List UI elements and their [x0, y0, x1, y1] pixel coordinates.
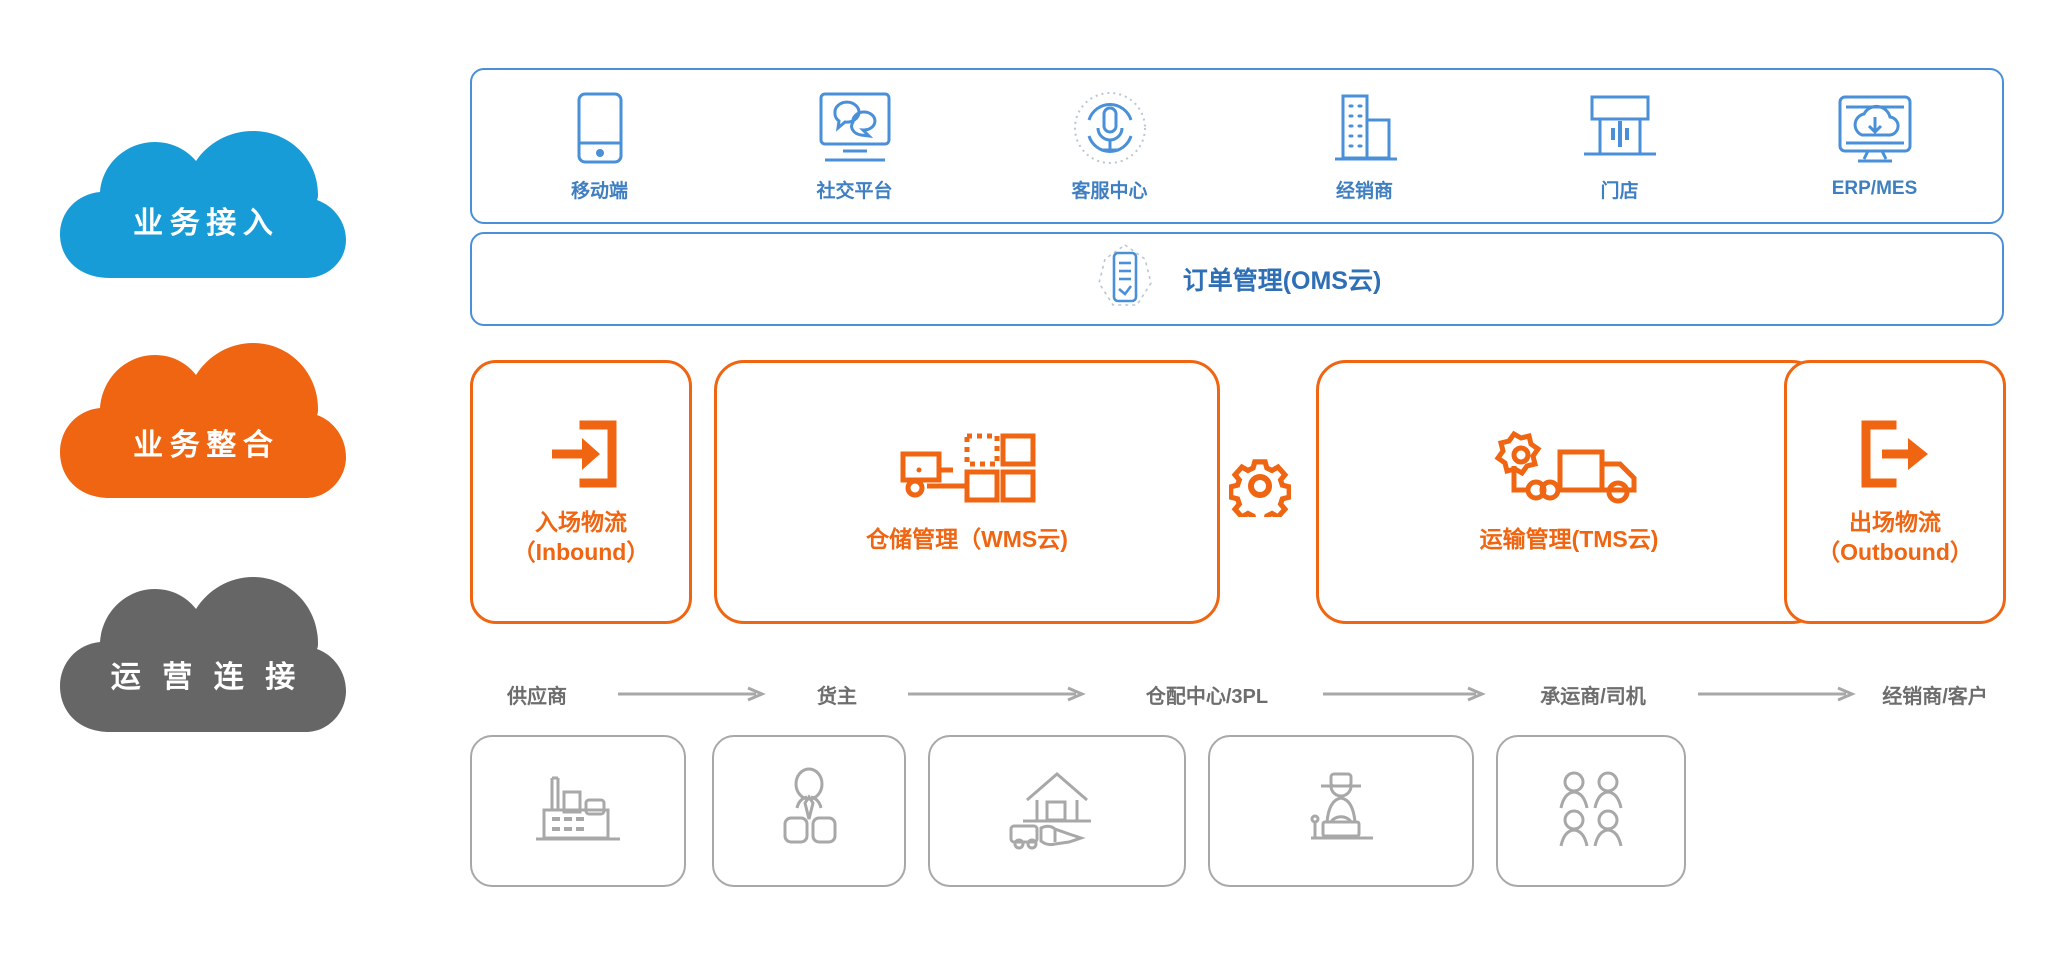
- integration-box-en: （Outbound）: [1817, 537, 1973, 567]
- operation-entity-customer[interactable]: [1496, 735, 1686, 887]
- access-channel-label: ERP/MES: [1832, 178, 1918, 200]
- truck-gear-icon: [1494, 430, 1644, 508]
- integration-box-en: （Inbound）: [513, 537, 650, 567]
- microphone-headset-icon: [1071, 90, 1149, 166]
- arrow-right-icon: [604, 686, 782, 702]
- integration-box-text: 仓储管理（WMS云): [866, 524, 1068, 554]
- operation-entity-3pl[interactable]: [928, 735, 1186, 887]
- flow-label-shipper: 货主: [817, 680, 857, 709]
- integration-box-text: 入场物流 （Inbound）: [513, 507, 650, 568]
- warehouse-pallet-icon: [897, 430, 1037, 508]
- operation-entity-carrier[interactable]: [1208, 735, 1474, 887]
- oms-bar[interactable]: 订单管理(OMS云): [470, 232, 2004, 326]
- storefront-icon: [1578, 90, 1662, 166]
- access-channel-dealer[interactable]: 经销商: [1237, 70, 1492, 222]
- cloud-layer-integration: 业务整合: [58, 330, 348, 500]
- person-with-boxes-icon: [769, 766, 849, 857]
- access-channel-service[interactable]: 客服中心: [982, 70, 1237, 222]
- integration-box-cn: 出场物流: [1817, 507, 1973, 537]
- integration-box-outbound[interactable]: 出场物流 （Outbound）: [1784, 360, 2006, 624]
- chat-bubbles-monitor-icon: [815, 90, 895, 166]
- factory-icon: [530, 766, 626, 857]
- operation-entities-row: [470, 735, 2000, 885]
- mobile-phone-icon: [575, 90, 625, 166]
- oms-label: 订单管理(OMS云): [1183, 261, 1382, 297]
- cloud-download-monitor-icon: [1832, 92, 1918, 168]
- arrow-out-of-box-icon: [1856, 417, 1934, 491]
- order-document-icon: [1093, 243, 1157, 316]
- integration-box-text: 运输管理(TMS云): [1480, 524, 1659, 554]
- integration-box-tms[interactable]: 运输管理(TMS云): [1316, 360, 1822, 624]
- access-channel-label: 社交平台: [816, 176, 892, 203]
- integration-box-wms[interactable]: 仓储管理（WMS云): [714, 360, 1220, 624]
- access-channels-panel: 移动端 社交平台: [470, 68, 2004, 224]
- operation-entity-supplier[interactable]: [470, 735, 686, 887]
- arrow-right-icon: [892, 686, 1104, 702]
- cloud-label-integration: 业务整合: [127, 420, 280, 464]
- people-group-icon: [1548, 766, 1634, 857]
- arrow-into-box-icon: [542, 417, 620, 491]
- cloud-layer-access: 业务接入: [58, 120, 348, 280]
- integration-box-cn: 入场物流: [513, 507, 650, 537]
- access-channel-label: 移动端: [571, 176, 628, 203]
- integration-box-inbound[interactable]: 入场物流 （Inbound）: [470, 360, 692, 624]
- access-channel-label: 门店: [1600, 176, 1638, 203]
- access-channel-mobile[interactable]: 移动端: [472, 70, 727, 222]
- flow-label-carrier: 承运商/司机: [1540, 680, 1646, 709]
- flow-label-supplier: 供应商: [507, 680, 567, 709]
- office-building-icon: [1327, 90, 1403, 166]
- cloud-shape-icon: [58, 330, 348, 500]
- driver-icon: [1293, 766, 1389, 857]
- integration-box-text: 出场物流 （Outbound）: [1817, 507, 1973, 568]
- access-channel-label: 客服中心: [1071, 176, 1147, 203]
- flow-label-customer: 经销商/客户: [1882, 680, 1988, 709]
- arrow-right-icon: [1686, 686, 1870, 702]
- gear-icon: [1222, 448, 1298, 524]
- cloud-shape-icon: [58, 562, 348, 734]
- access-channel-label: 经销商: [1336, 176, 1393, 203]
- diagram-canvas: 业务接入 业务整合 运 营 连 接 移动端: [0, 0, 2049, 960]
- integration-box-cn: 仓储管理（WMS云): [866, 524, 1068, 554]
- flow-label-3pl: 仓配中心/3PL: [1146, 680, 1268, 709]
- access-channel-erp[interactable]: ERP/MES: [1747, 70, 2002, 222]
- access-channel-social[interactable]: 社交平台: [727, 70, 982, 222]
- operation-entity-shipper[interactable]: [712, 735, 906, 887]
- access-channel-store[interactable]: 门店: [1492, 70, 1747, 222]
- cloud-label-access: 业务接入: [127, 198, 280, 242]
- cloud-layer-operation: 运 营 连 接: [58, 562, 348, 734]
- integration-box-cn: 运输管理(TMS云): [1480, 524, 1659, 554]
- cloud-label-operation: 运 营 连 接: [104, 652, 302, 696]
- operation-flow-labels: 供应商 货主 仓配中心/3PL 承运商/司机: [470, 672, 2000, 716]
- arrow-right-icon: [1310, 686, 1500, 702]
- warehouse-truck-icon: [999, 766, 1115, 857]
